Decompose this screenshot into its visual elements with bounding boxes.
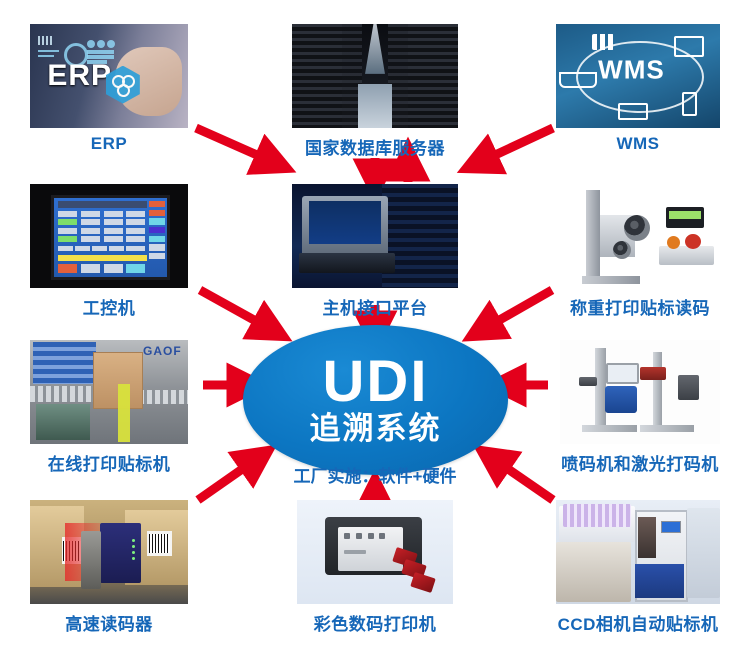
node-label-db-server: 国家数据库服务器 [305,134,445,159]
weigh-display [666,207,704,228]
db-server-image [292,24,458,128]
laser-head [640,367,666,379]
erp-image: ERP [30,24,188,128]
arrow-wms-to-host [478,128,553,163]
printer-button-1 [344,533,350,539]
host-console-screen [309,201,382,243]
erp-wordmark: ERP [47,59,112,93]
node-label-wms: WMS [616,134,659,154]
node-label-coder: 喷码机和激光打码机 [561,450,719,475]
node-erp[interactable]: ERP ERP [30,24,188,128]
scanner-led-2 [132,545,135,548]
weigh-platform [659,246,713,265]
inkjet-screen [606,363,639,384]
arrow-ccd-to-center [492,458,553,500]
node-ipc[interactable]: 工控机 [30,184,188,288]
printer-image [297,500,453,604]
barcode-scanner [100,523,141,583]
printer-slot [344,550,366,554]
node-ccd[interactable]: CCD相机自动贴标机 [556,500,720,604]
coder-image [560,340,720,444]
udi-sub-text: 追溯系统 [310,411,442,447]
inkjet-printhead [579,377,597,385]
ipc-image [30,184,188,288]
node-label-ipc: 工控机 [83,294,136,319]
node-host[interactable]: 主机接口平台 [292,184,458,288]
node-printer[interactable]: 彩色数码打印机 [297,500,453,604]
lab-bench [556,542,631,602]
labeler-window [638,517,656,559]
node-label-ccd: CCD相机自动贴标机 [558,610,719,635]
wms-ship-icon [559,72,597,88]
barcode-label-right [147,531,172,556]
reader-image [30,500,188,604]
node-label-inline: 在线打印贴标机 [48,450,171,475]
wms-people-icon [592,34,614,50]
wms-wordmark: WMS [598,54,665,85]
test-tubes [563,504,632,527]
server-rack-right [408,24,458,128]
blue-pallet [33,342,96,384]
scanner-led-1 [132,539,135,542]
node-coder[interactable]: 喷码机和激光打码机 [560,340,720,444]
node-label-weigh: 称重打印贴标读码 [570,294,710,319]
printer-front-panel [338,527,404,571]
arrow-weigh-to-center [482,290,552,330]
laser-base [640,425,694,431]
scanner-led-4 [132,557,135,560]
inline-image: GAOF [30,340,188,444]
host-console-laptop [302,196,388,256]
server-rack-left [292,24,342,128]
node-wms[interactable]: WMS WMS [556,24,720,128]
wms-truck-icon [618,103,648,120]
lab-background [687,508,720,597]
scanner-mount [81,531,102,589]
node-label-erp: ERP [91,134,127,154]
host-console-keyboard [299,253,395,274]
machine-body [36,404,90,439]
ccd-image [556,500,720,604]
inkjet-base [582,425,636,431]
printer-button-2 [356,533,362,539]
laser-column [653,352,663,425]
hmi-screen [51,195,171,280]
node-inline[interactable]: GAOF 在线打印贴标机 [30,340,188,444]
host-image [292,184,458,288]
printer-button-3 [368,533,374,539]
aisle-floor [358,84,391,128]
udi-center-node[interactable]: UDI 追溯系统 [243,325,508,475]
node-db-server[interactable]: 国家数据库服务器 [292,24,458,128]
factory-implementation-note: 工厂实施：软件+硬件 [294,462,457,487]
weigh-label-reel [624,215,650,241]
arrow-ipc-to-center [200,290,272,330]
conveyor-rollers-left [30,386,100,403]
node-label-host: 主机接口平台 [323,294,428,319]
node-weigh[interactable]: 称重打印贴标读码 [560,184,720,288]
udi-main-text: UDI [323,354,429,409]
weigh-image [560,184,720,288]
weigh-produce-red [685,234,701,249]
node-label-reader: 高速读码器 [65,610,153,635]
node-reader[interactable]: 高速读码器 [30,500,188,604]
inkjet-body [605,386,637,413]
printer-button-4 [379,533,385,539]
labeler-hmi [661,521,681,533]
wms-image: WMS [556,24,720,128]
labeler-lower-door [635,564,684,597]
wms-monitor-icon [674,36,704,57]
weigh-label-reel-2 [613,241,631,259]
diagram-canvas: ERP ERP 国家数据库服务器 WMS [0,0,750,650]
laser-controller [678,375,699,400]
gaof-watermark: GAOF [143,344,182,358]
arrow-reader-to-center [198,458,258,500]
weigh-base [582,276,640,284]
wms-phone-icon [682,92,697,116]
arrow-erp-to-host [196,128,275,163]
node-label-printer: 彩色数码打印机 [314,610,437,635]
weigh-column [586,190,600,277]
safety-guard [118,384,129,442]
scanner-led-3 [132,551,135,554]
